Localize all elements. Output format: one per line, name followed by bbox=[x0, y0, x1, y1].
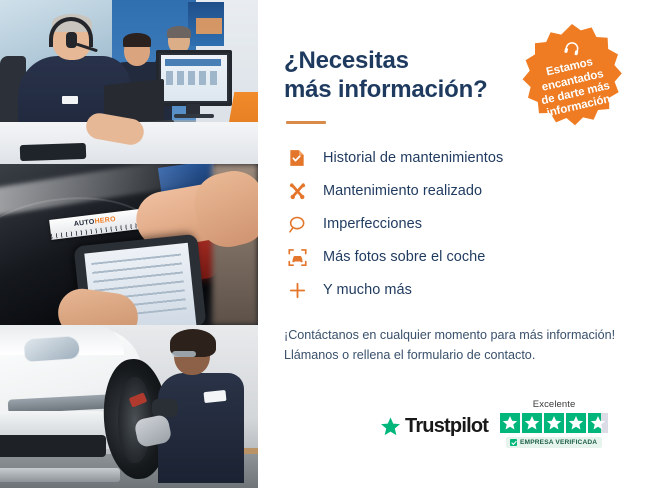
trustpilot-wordmark: Trustpilot bbox=[405, 415, 488, 438]
star-filled-2 bbox=[522, 413, 542, 433]
mechanic-wheel-check-photo bbox=[0, 325, 258, 488]
information-panel: AUTOHERO bbox=[0, 0, 650, 488]
support-starburst-badge: Estamos encantados de darte más informac… bbox=[516, 22, 628, 134]
car-undercarriage bbox=[0, 435, 106, 457]
magnifier-icon bbox=[284, 211, 310, 237]
feature-label: Imperfecciones bbox=[323, 216, 422, 232]
photo-column: AUTOHERO bbox=[0, 0, 258, 488]
badge-message: Estamos encantados de darte más informac… bbox=[532, 46, 614, 121]
desktop-monitor bbox=[156, 50, 232, 106]
contact-paragraph: ¡Contáctanos en cualquier momento para m… bbox=[284, 325, 628, 367]
feature-item-much-more: Y mucho más bbox=[284, 274, 628, 307]
feature-item-maintenance-done: Mantenimiento realizado bbox=[284, 175, 628, 208]
trustpilot-rating-block[interactable]: Trustpilot Excelente bbox=[380, 399, 608, 448]
agent-one-name-badge bbox=[62, 96, 78, 104]
car-headlight bbox=[23, 335, 81, 363]
call-center-agents-photo bbox=[0, 0, 258, 164]
plus-icon bbox=[284, 277, 310, 303]
desk-tablet bbox=[20, 143, 87, 161]
star-filled-1 bbox=[500, 413, 520, 433]
star-filled-3 bbox=[544, 413, 564, 433]
paragraph-line-2: Llámanos o rellena el formulario de cont… bbox=[284, 348, 535, 362]
feature-item-more-photos: Más fotos sobre el coche bbox=[284, 241, 628, 274]
paragraph-line-1: ¡Contáctanos en cualquier momento para m… bbox=[284, 328, 615, 342]
feature-item-imperfections: Imperfecciones bbox=[284, 208, 628, 241]
verified-label: EMPRESA VERIFICADA bbox=[520, 439, 597, 446]
wall-poster-accent bbox=[196, 18, 222, 34]
feature-label: Historial de mantenimientos bbox=[323, 150, 503, 166]
trustpilot-score: Excelente bbox=[500, 399, 608, 448]
feature-label: Mantenimiento realizado bbox=[323, 183, 482, 199]
feature-list: Historial de mantenimientos Mantenimient… bbox=[284, 142, 628, 307]
trustpilot-star-icon bbox=[380, 416, 401, 437]
page-title: ¿Necesitas más información? bbox=[284, 46, 512, 105]
trustpilot-logo[interactable]: Trustpilot bbox=[380, 415, 488, 448]
car-lift-arm bbox=[0, 468, 120, 482]
agent-two-hair bbox=[123, 33, 151, 47]
agent-three-hair bbox=[167, 26, 191, 38]
content-column: ¿Necesitas más información? Estamos bbox=[258, 0, 650, 488]
headline-line-2: más información? bbox=[284, 76, 488, 103]
headset-earpad bbox=[66, 32, 77, 48]
document-check-icon bbox=[284, 145, 310, 171]
feature-item-maintenance-history: Historial de mantenimientos bbox=[284, 142, 628, 175]
star-partial-5 bbox=[588, 413, 608, 433]
monitor-screen bbox=[161, 55, 227, 101]
tools-cross-icon bbox=[284, 178, 310, 204]
verified-check-icon bbox=[510, 439, 517, 446]
title-underline-accent bbox=[286, 121, 326, 124]
headline-line-1: ¿Necesitas bbox=[284, 47, 409, 74]
star-filled-4 bbox=[566, 413, 586, 433]
star-rating bbox=[500, 413, 608, 433]
safety-glasses bbox=[172, 351, 196, 357]
feature-label: Más fotos sobre el coche bbox=[323, 249, 485, 265]
rating-label: Excelente bbox=[533, 399, 576, 410]
mechanic-body bbox=[158, 373, 244, 483]
feature-label: Y mucho más bbox=[323, 282, 412, 298]
mechanic-logo-badge bbox=[203, 390, 226, 403]
verified-company-badge: EMPRESA VERIFICADA bbox=[506, 437, 602, 448]
mechanic-glove-dark bbox=[152, 399, 178, 417]
car-scan-icon bbox=[284, 244, 310, 270]
monitor-base bbox=[174, 114, 214, 118]
car-inspection-ruler-photo: AUTOHERO bbox=[0, 164, 258, 325]
